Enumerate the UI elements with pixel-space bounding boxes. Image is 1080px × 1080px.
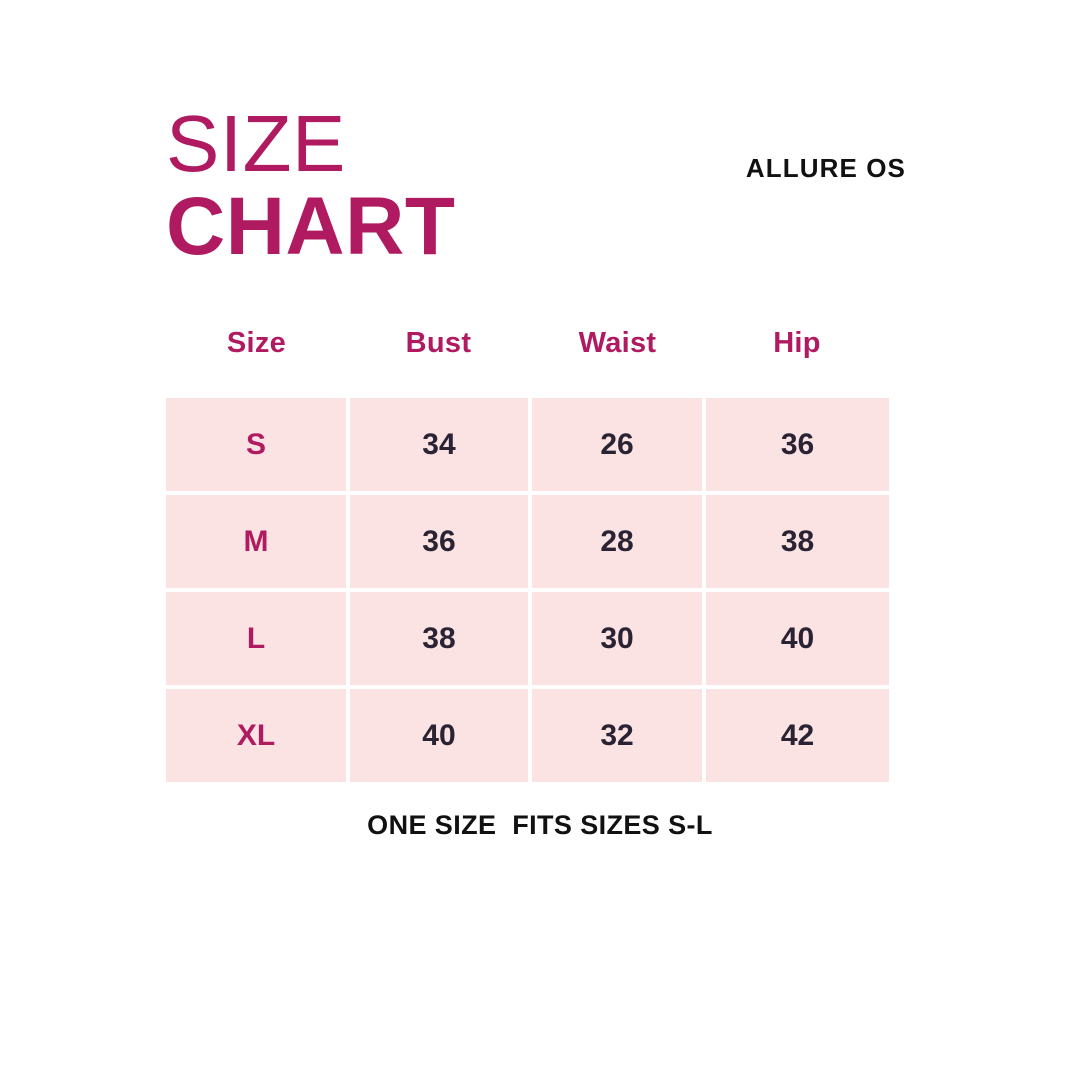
table-row: M 36 28 38 bbox=[166, 495, 889, 588]
cell-hip: 36 bbox=[706, 398, 889, 491]
cell-bust: 34 bbox=[350, 398, 528, 491]
cell-waist: 32 bbox=[532, 689, 702, 782]
size-chart-page: SIZE CHART ALLURE OS Size Bust Waist Hip… bbox=[0, 0, 1080, 1080]
cell-waist: 26 bbox=[532, 398, 702, 491]
brand-name: ALLURE OS bbox=[746, 153, 906, 184]
title-line-chart: CHART bbox=[166, 186, 455, 268]
table-header-row: Size Bust Waist Hip bbox=[166, 312, 889, 374]
cell-waist: 28 bbox=[532, 495, 702, 588]
column-header-waist: Waist bbox=[530, 327, 705, 360]
cell-bust: 38 bbox=[350, 592, 528, 685]
header: SIZE CHART ALLURE OS bbox=[166, 108, 906, 278]
cell-hip: 38 bbox=[706, 495, 889, 588]
table-body: S 34 26 36 M 36 28 38 L 38 30 40 XL 40 3… bbox=[166, 398, 889, 782]
cell-size: L bbox=[166, 592, 346, 685]
cell-size: S bbox=[166, 398, 346, 491]
title-line-size: SIZE bbox=[166, 108, 455, 180]
size-table: Size Bust Waist Hip S 34 26 36 M 36 28 3… bbox=[166, 312, 889, 782]
cell-waist: 30 bbox=[532, 592, 702, 685]
cell-bust: 40 bbox=[350, 689, 528, 782]
page-title: SIZE CHART bbox=[166, 108, 455, 268]
cell-hip: 42 bbox=[706, 689, 889, 782]
column-header-bust: Bust bbox=[347, 327, 530, 360]
cell-hip: 40 bbox=[706, 592, 889, 685]
one-size-note: ONE SIZE FITS SIZES S-L bbox=[0, 810, 1080, 841]
column-header-hip: Hip bbox=[705, 327, 889, 360]
cell-size: M bbox=[166, 495, 346, 588]
table-row: S 34 26 36 bbox=[166, 398, 889, 491]
table-row: L 38 30 40 bbox=[166, 592, 889, 685]
cell-size: XL bbox=[166, 689, 346, 782]
table-row: XL 40 32 42 bbox=[166, 689, 889, 782]
column-header-size: Size bbox=[166, 327, 347, 360]
cell-bust: 36 bbox=[350, 495, 528, 588]
